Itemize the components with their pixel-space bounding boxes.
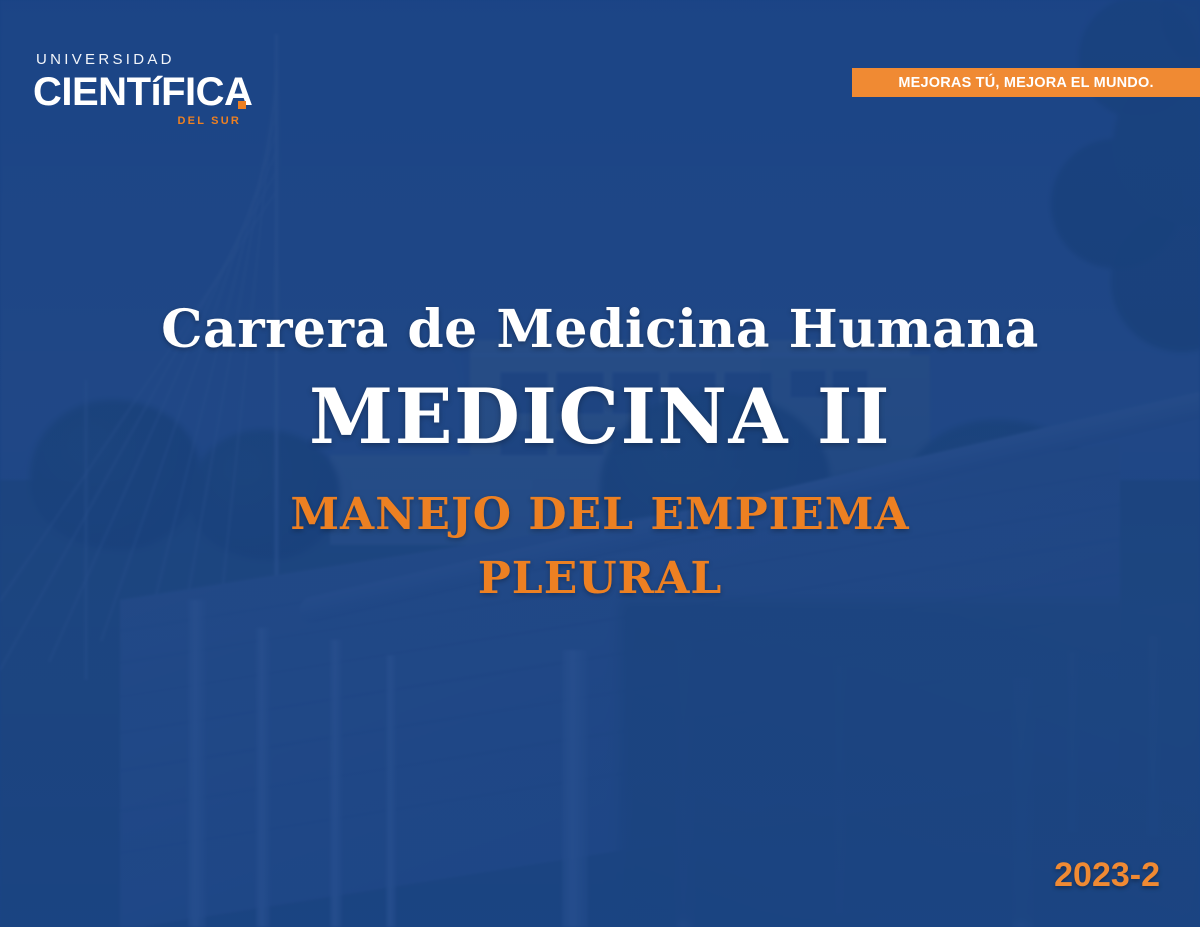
title-slide: UNIVERSIDAD CIENTíFICA DEL SUR MEJORAS T… [0, 0, 1200, 927]
logo-line-cientifica: CIENTíFICA [33, 71, 243, 113]
topic-title-line2: PLEURAL [0, 547, 1200, 611]
subject-title: MEDICINA II [0, 372, 1200, 462]
logo-wordmark-text: CIENTíFICA [33, 70, 252, 114]
logo-line-universidad: UNIVERSIDAD [36, 52, 243, 67]
university-logo: UNIVERSIDAD CIENTíFICA DEL SUR [33, 52, 243, 127]
course-title: Carrera de Medicina Humana [0, 300, 1200, 360]
topic-title-line1: MANEJO DEL EMPIEMA [0, 483, 1200, 547]
tagline-banner: MEJORAS TÚ, MEJORA EL MUNDO. [852, 68, 1200, 97]
topic-title: MANEJO DEL EMPIEMA PLEURAL [0, 483, 1200, 611]
tagline-text: MEJORAS TÚ, MEJORA EL MUNDO. [898, 75, 1153, 91]
title-block: Carrera de Medicina Humana MEDICINA II M… [0, 300, 1200, 611]
logo-line-del-sur: DEL SUR [33, 115, 243, 127]
academic-term-label: 2023-2 [1054, 856, 1160, 895]
logo-orange-dot-icon [238, 101, 246, 109]
